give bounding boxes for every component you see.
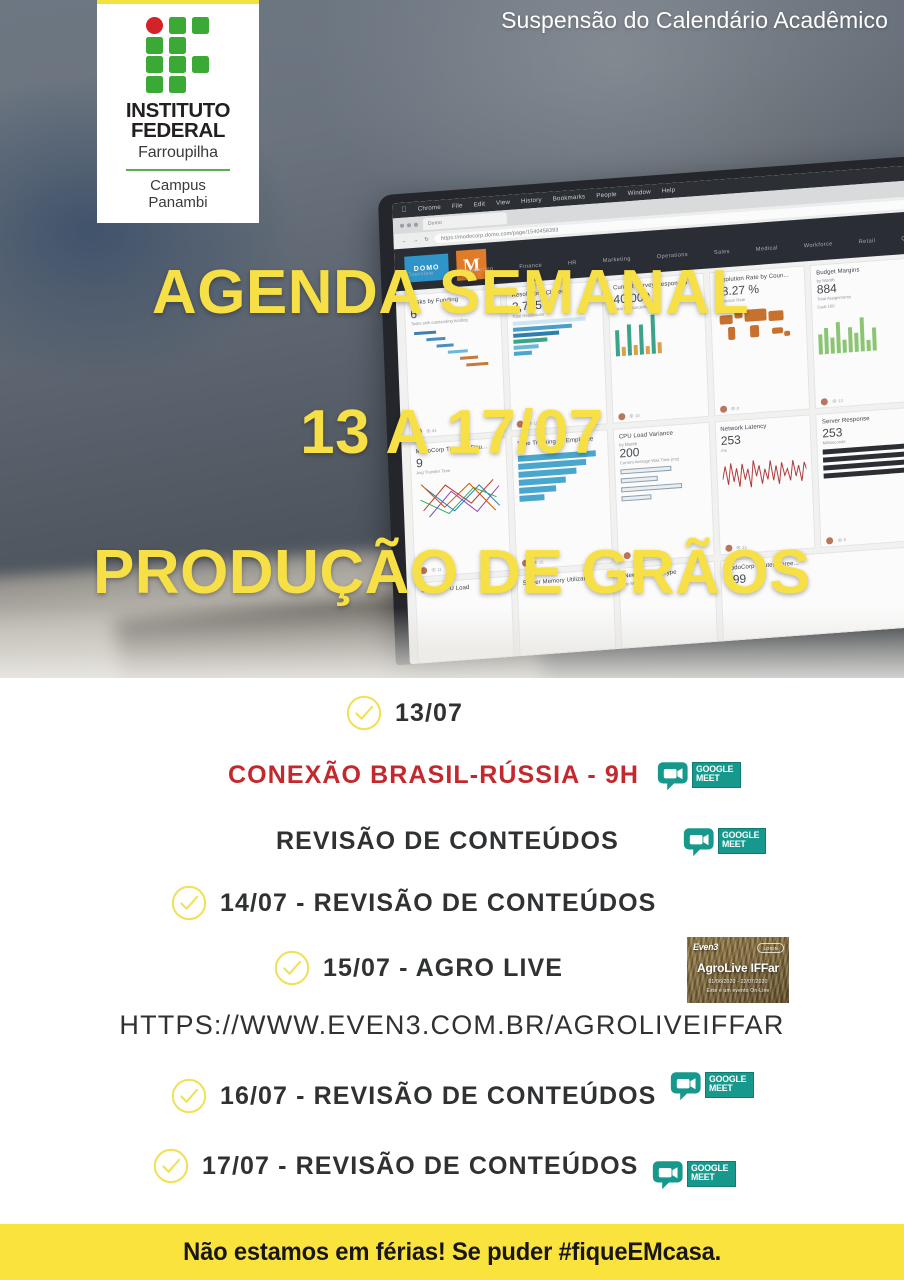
google-meet-wordmark: GOOGLE MEET	[687, 1161, 736, 1186]
back-icon: ←	[401, 238, 407, 244]
poster-titles: AGENDA SEMANAL 13 A 17/07 PRODUÇÃO DE GR…	[0, 262, 904, 604]
even3-event-note: Este é um evento On-Line	[687, 988, 789, 994]
institute-name-line2: FEDERAL	[131, 121, 225, 141]
menu-file: File	[452, 202, 463, 210]
agenda-item-1707: 17/07 - REVISÃO DE CONTEÚDOS GOOGLE MEET	[152, 1141, 736, 1191]
meet-wordmark-line2: MEET	[722, 841, 759, 850]
even3-event-title: AgroLive IFFar	[687, 961, 789, 975]
menu-window: Window	[628, 188, 651, 197]
check-circle-icon	[170, 884, 208, 922]
forward-icon: →	[413, 237, 419, 243]
check-circle-icon	[345, 694, 383, 732]
title-line-2: 13 A 17/07	[0, 402, 904, 464]
title-line-1: AGENDA SEMANAL	[0, 262, 904, 324]
institution-logo-card: INSTITUTO FEDERAL Farroupilha Campus Pan…	[97, 0, 259, 223]
menu-chrome: Chrome	[418, 204, 441, 213]
google-meet-wordmark: GOOGLE MEET	[718, 828, 767, 853]
agenda-item-label: REVISÃO DE CONTEÚDOS	[276, 827, 619, 856]
menu-bookmarks: Bookmarks	[553, 193, 586, 202]
google-meet-wordmark: GOOGLE MEET	[705, 1072, 754, 1097]
google-meet-video-icon	[683, 824, 717, 858]
meet-wordmark-line2: MEET	[691, 1174, 728, 1183]
institute-unit: Farroupilha	[138, 144, 218, 162]
agenda-item-1407: 14/07 - REVISÃO DE CONTEÚDOS	[170, 884, 656, 922]
google-meet-badge[interactable]: GOOGLE MEET	[657, 758, 741, 792]
google-meet-badge[interactable]: GOOGLE MEET	[683, 824, 767, 858]
nav-retail: Retail	[859, 238, 876, 245]
nav-sales: Sales	[714, 249, 730, 256]
check-circle-icon	[273, 949, 311, 987]
even3-event-thumbnail[interactable]: Even3 LOGIN AgroLive IFFar 01/06/2020 - …	[687, 937, 789, 1003]
menu-view: View	[496, 199, 510, 207]
agenda-item-1307: 13/07	[345, 694, 463, 732]
even3-login-button[interactable]: LOGIN	[757, 943, 784, 953]
agenda-item-conexao: CONEXÃO BRASIL-RÚSSIA - 9H GOOGLE MEET	[228, 758, 741, 792]
google-meet-wordmark: GOOGLE MEET	[692, 762, 741, 787]
menu-people: People	[596, 191, 617, 199]
agenda-item-label: 17/07 - REVISÃO DE CONTEÚDOS	[202, 1152, 638, 1181]
google-meet-video-icon	[657, 758, 691, 792]
if-logo-icon	[146, 17, 210, 93]
even3-event-dates: 01/06/2020 - 22/07/2020	[687, 979, 789, 985]
agenda-item-revisao: REVISÃO DE CONTEÚDOS GOOGLE MEET	[276, 824, 766, 858]
meet-wordmark-line2: MEET	[709, 1085, 746, 1094]
menu-edit: Edit	[474, 201, 486, 209]
institute-name-line1: INSTITUTO	[126, 101, 230, 121]
campus-line2: Panambi	[148, 194, 207, 212]
agenda-item-label: 14/07 - REVISÃO DE CONTEÚDOS	[220, 889, 656, 918]
poster:  Chrome File Edit View History Bookmark…	[0, 0, 904, 1280]
google-meet-badge[interactable]: GOOGLE MEET	[670, 1068, 754, 1102]
agenda-item-1507: 15/07 - AGRO LIVE	[273, 949, 563, 987]
footer-message: Não estamos em férias! Se puder #fiqueEM…	[183, 1238, 721, 1267]
google-meet-video-icon	[670, 1068, 704, 1102]
menu-help: Help	[662, 187, 676, 195]
footer-banner: Não estamos em férias! Se puder #fiqueEM…	[0, 1224, 904, 1280]
google-meet-video-icon	[652, 1157, 686, 1191]
agenda-item-1607: 16/07 - REVISÃO DE CONTEÚDOS GOOGLE MEET	[170, 1077, 754, 1115]
apple-icon: 	[401, 206, 407, 213]
campus-line1: Campus	[150, 177, 206, 195]
agenda-item-label: CONEXÃO BRASIL-RÚSSIA - 9H	[228, 761, 639, 790]
check-circle-icon	[152, 1147, 190, 1185]
hero-banner:  Chrome File Edit View History Bookmark…	[0, 0, 904, 678]
menu-history: History	[521, 196, 542, 205]
google-meet-badge[interactable]: GOOGLE MEET	[652, 1157, 736, 1191]
title-line-3: PRODUÇÃO DE GRÃOS	[0, 542, 904, 604]
agenda-item-label: 15/07 - AGRO LIVE	[323, 954, 563, 983]
meet-wordmark-line2: MEET	[696, 775, 733, 784]
check-circle-icon	[170, 1077, 208, 1115]
hero-bottom-fade	[0, 608, 904, 678]
even3-brand-logo: Even3	[693, 942, 718, 952]
event-url[interactable]: HTTPS://WWW.EVEN3.COM.BR/AGROLIVEIFFAR	[0, 1010, 904, 1041]
reload-icon: ↻	[424, 236, 429, 242]
logo-divider	[126, 169, 230, 171]
agenda-item-label: 16/07 - REVISÃO DE CONTEÚDOS	[220, 1082, 656, 1111]
agenda-item-label: 13/07	[395, 699, 463, 728]
window-controls	[400, 223, 418, 228]
hero-note: Suspensão do Calendário Acadêmico	[501, 7, 888, 34]
